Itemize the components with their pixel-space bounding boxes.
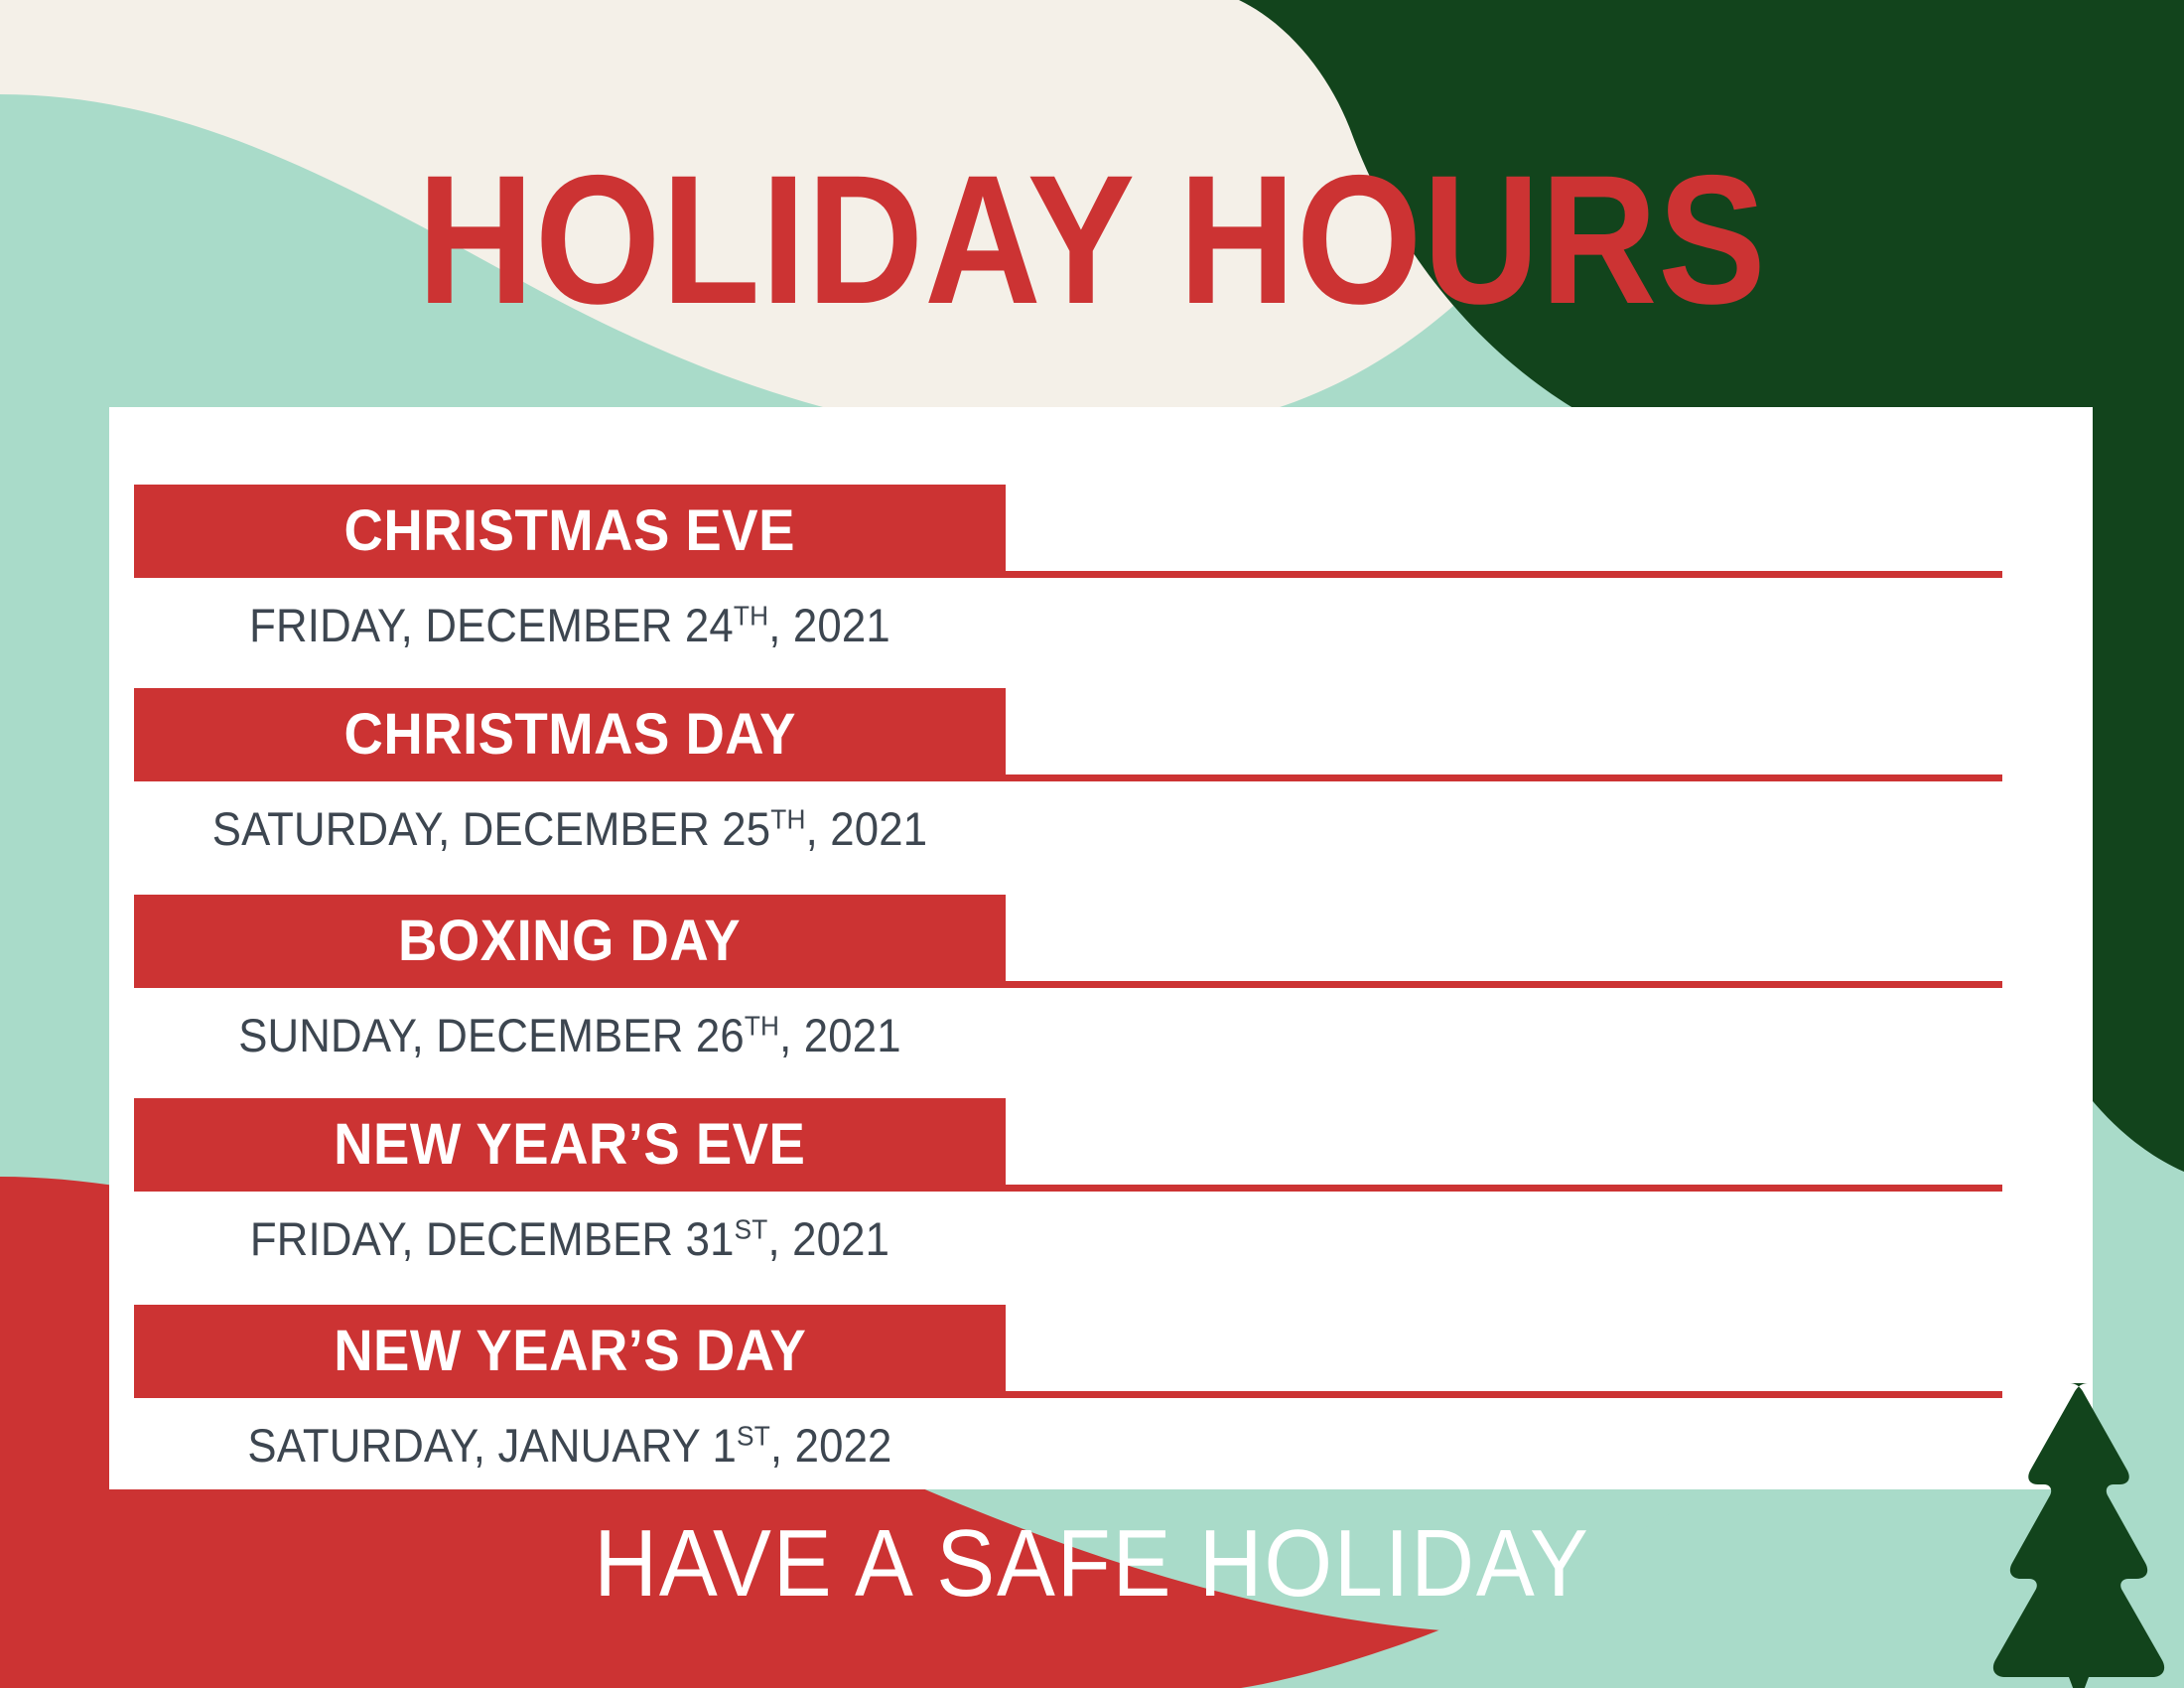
date-ordinal: TH [745, 1009, 779, 1041]
page-title: HOLIDAY HOURS [131, 149, 2053, 333]
hours-rule-line [1006, 774, 2002, 781]
holiday-date: FRIDAY, DECEMBER 24TH, 2021 [165, 602, 976, 648]
date-ordinal: TH [734, 599, 768, 631]
date-prefix: FRIDAY, DECEMBER 31 [250, 1212, 735, 1265]
date-prefix: SATURDAY, DECEMBER 25 [212, 802, 771, 855]
holiday-date: FRIDAY, DECEMBER 31ST, 2021 [165, 1215, 976, 1262]
date-suffix: , 2021 [779, 1009, 901, 1061]
holiday-date: SATURDAY, JANUARY 1ST, 2022 [165, 1422, 976, 1469]
date-suffix: , 2021 [767, 1212, 889, 1265]
christmas-tree-icon [1946, 1365, 2184, 1688]
holiday-name-bar: CHRISTMAS DAY [134, 688, 1006, 781]
holiday-date: SATURDAY, DECEMBER 25TH, 2021 [165, 805, 976, 852]
holiday-name-bar: CHRISTMAS EVE [134, 485, 1006, 578]
hours-rule-line [1006, 571, 2002, 578]
date-prefix: SATURDAY, JANUARY 1 [247, 1419, 737, 1472]
holiday-name-bar: NEW YEAR’S EVE [134, 1098, 1006, 1192]
date-prefix: FRIDAY, DECEMBER 24 [249, 599, 734, 651]
date-suffix: , 2021 [806, 802, 928, 855]
holiday-name-bar: BOXING DAY [134, 895, 1006, 988]
hours-rule-line [1006, 1185, 2002, 1192]
holiday-date: SUNDAY, DECEMBER 26TH, 2021 [165, 1012, 976, 1058]
date-prefix: SUNDAY, DECEMBER 26 [238, 1009, 745, 1061]
date-ordinal: TH [770, 802, 805, 834]
holiday-name: BOXING DAY [398, 913, 741, 970]
schedule-card: CHRISTMAS EVE FRIDAY, DECEMBER 24TH, 202… [109, 407, 2093, 1489]
holiday-name: NEW YEAR’S DAY [334, 1323, 806, 1380]
holiday-name: NEW YEAR’S EVE [334, 1116, 805, 1174]
holiday-name: CHRISTMAS EVE [344, 502, 795, 560]
holiday-name: CHRISTMAS DAY [343, 706, 795, 764]
date-ordinal: ST [737, 1419, 770, 1451]
date-suffix: , 2021 [768, 599, 890, 651]
hours-rule-line [1006, 981, 2002, 988]
date-ordinal: ST [735, 1212, 768, 1244]
footer-message: HAVE A SAFE HOLIDAY [87, 1516, 2097, 1612]
date-suffix: , 2022 [770, 1419, 892, 1472]
holiday-hours-poster: HOLIDAY HOURS CHRISTMAS EVE FRIDAY, DECE… [0, 0, 2184, 1688]
hours-rule-line [1006, 1391, 2002, 1398]
holiday-name-bar: NEW YEAR’S DAY [134, 1305, 1006, 1398]
